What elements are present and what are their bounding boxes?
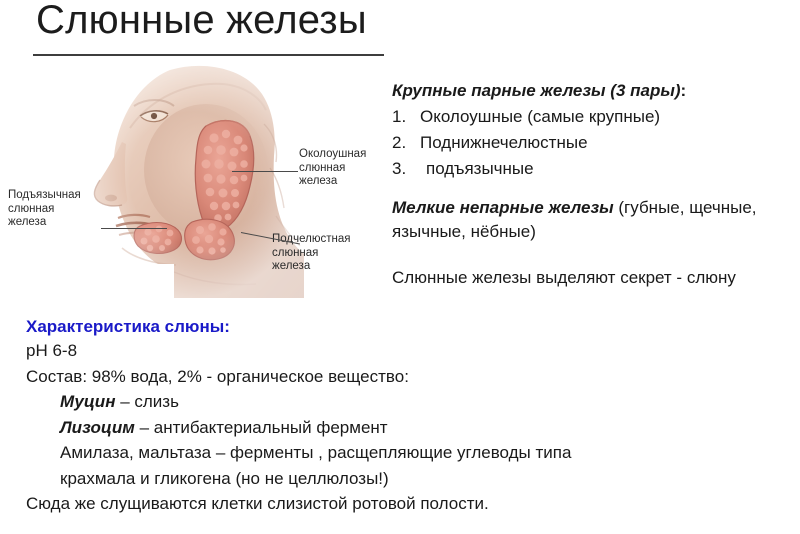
list-item: 2. Поднижнечелюстные — [392, 130, 792, 156]
saliva-footer-note: Сюда же слущиваются клетки слизистой рот… — [26, 491, 786, 517]
saliva-characteristics-block: Характеристика слюны: рН 6-8 Состав: 98%… — [26, 316, 786, 517]
leader-line-sublingual — [101, 228, 167, 229]
saliva-composition: Состав: 98% вода, 2% - органическое веще… — [26, 364, 786, 390]
saliva-component-amylase: Амилаза, мальтаза – ферменты , расщепляю… — [26, 440, 800, 491]
major-glands-heading-colon: : — [681, 81, 687, 100]
component-description-continued: крахмала и гликогена (но не целлюлозы!) — [60, 466, 800, 492]
right-text-column: Крупные парные железы (3 пары): 1. Около… — [392, 80, 792, 290]
list-item-label: Околоушные (самые крупные) — [420, 104, 792, 130]
leader-line-parotid — [232, 171, 298, 172]
label-sublingual-gland: Подъязычная слюнная железа — [8, 189, 81, 230]
minor-glands-term: Мелкие непарные железы — [392, 198, 614, 217]
slide-salivary-glands: Слюнные железы — [0, 0, 800, 534]
component-description: – антибактериальный фермент — [135, 418, 388, 437]
saliva-component-mucin: Муцин – слизь — [26, 389, 786, 415]
component-term: Лизоцим — [60, 418, 135, 437]
saliva-component-lysozyme: Лизоцим – антибактериальный фермент — [26, 415, 786, 441]
saliva-heading: Характеристика слюны: — [26, 316, 786, 338]
component-term: Муцин — [60, 392, 115, 411]
list-item-label: Поднижнечелюстные — [420, 130, 792, 156]
title-underline-rule — [33, 54, 384, 56]
major-glands-list: 1. Околоушные (самые крупные) 2. Поднижн… — [392, 104, 792, 182]
component-description: – ферменты , расщепляющие углеводы типа — [211, 443, 571, 462]
list-item: 1. Околоушные (самые крупные) — [392, 104, 792, 130]
component-description: – слизь — [115, 392, 178, 411]
page-title: Слюнные железы — [36, 0, 367, 43]
minor-glands-paragraph: Мелкие непарные железы (губные, щечные, … — [392, 196, 766, 244]
major-glands-heading: Крупные парные железы (3 пары): — [392, 80, 792, 101]
secretion-paragraph: Слюнные железы выделяют секрет - слюну — [392, 266, 762, 290]
list-item-number: 3. — [392, 156, 420, 182]
list-item: 3. подъязычные — [392, 156, 792, 182]
label-submandibular-gland: Подчелюстная слюнная железа — [272, 233, 350, 274]
list-item-label: подъязычные — [420, 156, 792, 182]
label-parotid-gland: Околоушная слюнная железа — [299, 148, 366, 189]
major-glands-heading-text: Крупные парные железы (3 пары) — [392, 81, 681, 100]
list-item-number: 1. — [392, 104, 420, 130]
component-term: Амилаза, мальтаза — [60, 443, 211, 462]
saliva-ph: рН 6-8 — [26, 338, 786, 364]
list-item-number: 2. — [392, 130, 420, 156]
